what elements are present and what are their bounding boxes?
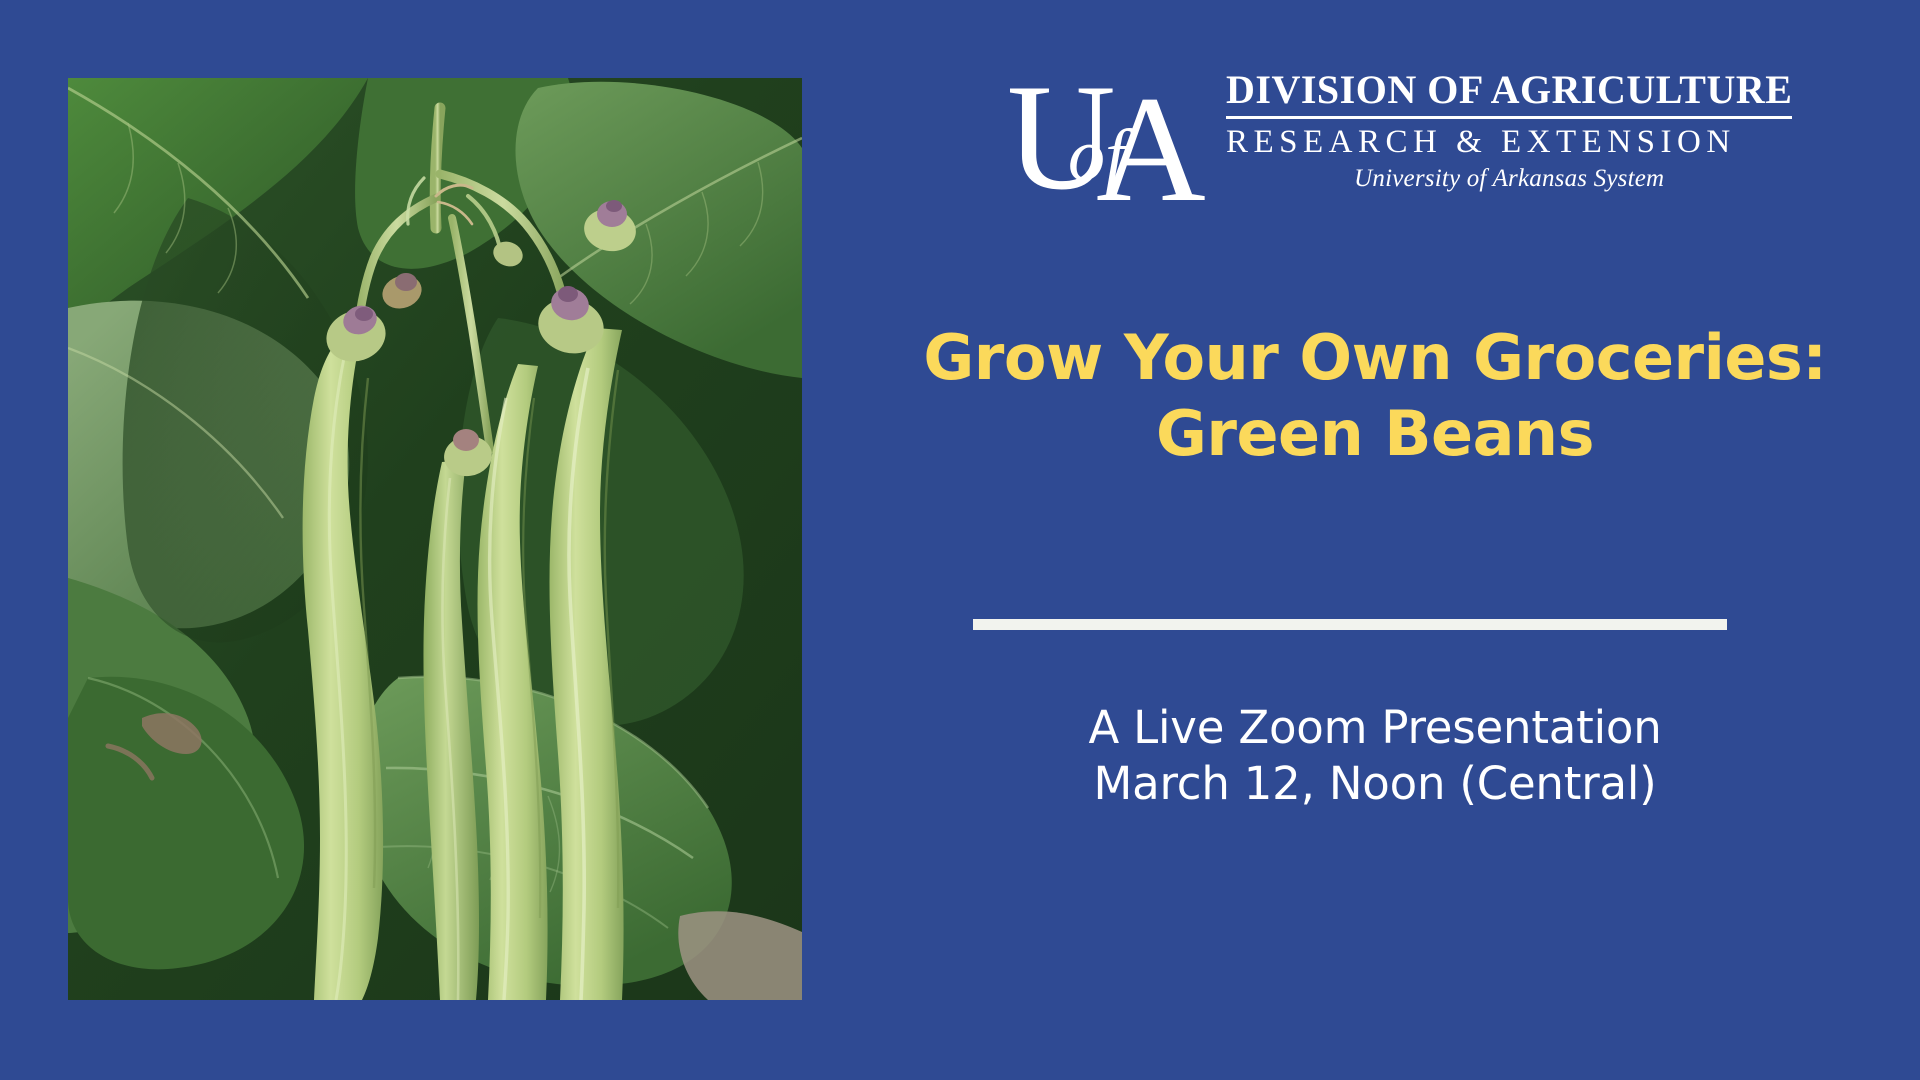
event-title: Grow Your Own Groceries: Green Beans: [830, 320, 1920, 471]
green-bean-photo: [68, 78, 802, 1000]
logo-divider-rule: [1226, 116, 1792, 119]
logo-research-extension-line: RESEARCH & EXTENSION: [1226, 125, 1792, 160]
uofa-monogram-icon: U A of: [1010, 68, 1220, 204]
green-bean-illustration: [68, 78, 802, 1000]
poster-canvas: U A of DIVISION OF AGRICULTURE RESEARCH …: [0, 0, 1920, 1080]
logo-wordmark: DIVISION OF AGRICULTURE RESEARCH & EXTEN…: [1220, 68, 1792, 194]
event-datetime-line: March 12, Noon (Central): [830, 756, 1920, 812]
logo-university-system-line: University of Arkansas System: [1226, 164, 1792, 194]
event-details: A Live Zoom Presentation March 12, Noon …: [830, 700, 1920, 812]
logo-division-line: DIVISION OF AGRICULTURE: [1226, 70, 1792, 111]
monogram-of-letters: of: [1068, 115, 1135, 197]
uofa-division-of-agriculture-logo: U A of DIVISION OF AGRICULTURE RESEARCH …: [1010, 68, 1710, 208]
event-format-line: A Live Zoom Presentation: [830, 700, 1920, 756]
event-title-line-2: Green Beans: [830, 396, 1920, 472]
content-column: U A of DIVISION OF AGRICULTURE RESEARCH …: [830, 0, 1920, 1080]
section-divider: [973, 619, 1727, 630]
uofa-monogram-svg: U A of: [1010, 68, 1220, 204]
event-title-line-1: Grow Your Own Groceries:: [830, 320, 1920, 396]
